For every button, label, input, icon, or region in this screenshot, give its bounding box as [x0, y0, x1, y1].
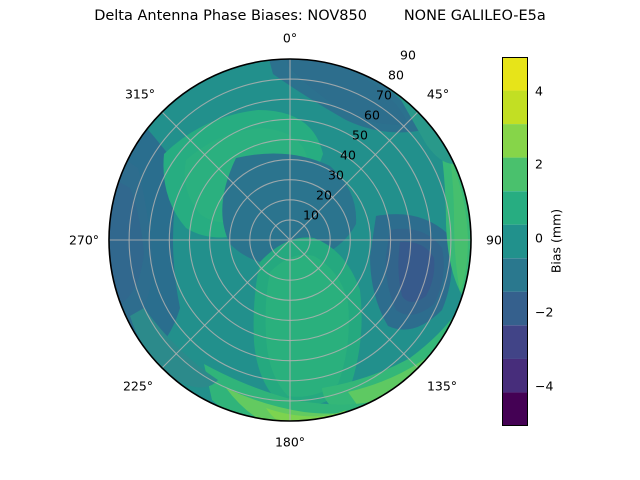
cbar-band-3 — [502, 258, 528, 292]
cbar-tick-label-2: 2 — [535, 157, 543, 172]
r-label-60: 60 — [364, 108, 380, 123]
colorbar-axis-label: Bias (mm) — [549, 209, 564, 273]
figure-canvas: Delta Antenna Phase Biases: NOV850 NONE … — [0, 0, 640, 480]
cbar-tick-label-minus2: −2 — [535, 304, 553, 319]
cbar-band-6 — [502, 158, 528, 192]
theta-label-270: 270° — [69, 233, 99, 248]
cbar-band-9 — [502, 57, 528, 91]
polar-plot-axes[interactable]: 0° 45° 90 135° 180° 225° 270° 315° 10 20… — [108, 58, 472, 422]
page-title: Delta Antenna Phase Biases: NOV850 NONE … — [0, 8, 640, 24]
cbar-band-7 — [502, 124, 528, 158]
r-label-90: 90 — [400, 48, 416, 63]
cbar-band-2 — [502, 292, 528, 326]
r-label-80: 80 — [388, 68, 404, 83]
r-label-40: 40 — [340, 148, 356, 163]
cbar-tick-label-0: 0 — [535, 231, 543, 246]
polar-grid-spokes — [109, 59, 471, 421]
r-label-30: 30 — [328, 168, 344, 183]
theta-label-45: 45° — [427, 87, 449, 102]
r-label-10: 10 — [303, 208, 319, 223]
r-label-20: 20 — [316, 188, 332, 203]
theta-label-180: 180° — [275, 435, 305, 450]
cbar-band-0 — [502, 359, 528, 393]
cbar-band-5 — [502, 191, 528, 225]
theta-label-315: 315° — [125, 87, 155, 102]
cbar-band-8 — [502, 91, 528, 125]
colorbar-axes[interactable]: 4 2 0 −2 −4 — [502, 57, 528, 426]
cbar-band-1 — [502, 325, 528, 359]
theta-label-0: 0° — [283, 31, 297, 46]
cbar-band-min — [502, 393, 528, 427]
r-label-70: 70 — [376, 88, 392, 103]
theta-label-90: 90 — [486, 233, 502, 248]
colorbar-gradient — [502, 57, 528, 426]
theta-label-135: 135° — [427, 379, 457, 394]
r-label-50: 50 — [352, 128, 368, 143]
cbar-tick-label-4: 4 — [535, 83, 543, 98]
theta-label-225: 225° — [123, 379, 153, 394]
cbar-band-4 — [502, 225, 528, 259]
cbar-tick-label-minus4: −4 — [535, 378, 553, 393]
polar-contour-plot — [108, 58, 472, 422]
